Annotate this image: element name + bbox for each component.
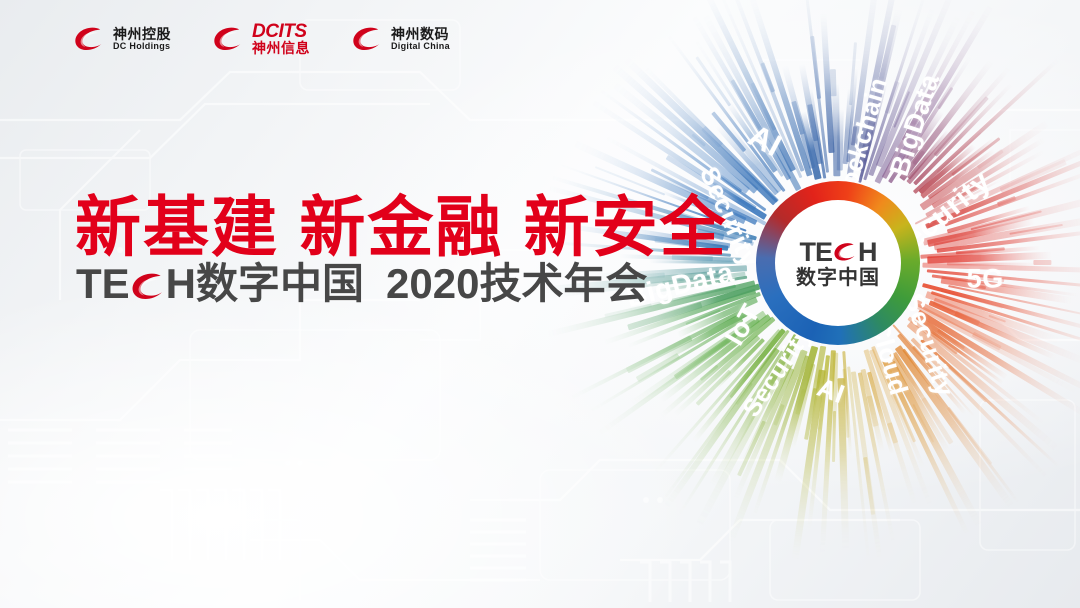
center-logo-ring: TE H 数字中国	[756, 181, 920, 345]
brand-en-label: Digital China	[391, 42, 450, 52]
logo-bar: 神州控股 DC Holdings DCITS 神州信息	[72, 22, 450, 56]
dc-swoosh-icon	[129, 268, 167, 301]
dc-swoosh-icon	[211, 25, 245, 53]
dc-swoosh-icon	[832, 241, 858, 263]
brand-en-label: DC Holdings	[113, 42, 171, 52]
subtitle-event: 技术年会	[479, 263, 647, 305]
brand-digital-china: 神州数码 Digital China	[350, 25, 450, 53]
page-subtitle: TE H数字中国 2020 技术年会	[76, 263, 647, 305]
poster-canvas: SecurityAIBlockchainBigDataSecurity5GSec…	[0, 0, 1080, 608]
page-title: 新基建 新金融 新安全	[75, 193, 728, 262]
dc-swoosh-icon	[350, 25, 384, 53]
brand-wordmark: DCITS	[252, 22, 310, 41]
brand-cn-label: 神州控股	[113, 27, 171, 42]
brand-dcits: DCITS 神州信息	[211, 22, 310, 56]
subtitle-tech-pre: TE	[76, 263, 130, 305]
center-logo-tech: TE H	[799, 239, 876, 266]
brand-cn-label: 神州数码	[391, 27, 450, 42]
brand-text: 神州数码 Digital China	[391, 27, 450, 52]
subtitle-year: 2020	[386, 263, 479, 305]
brand-text: 神州控股 DC Holdings	[113, 27, 171, 52]
center-logo-inner: TE H 数字中国	[775, 200, 901, 326]
brand-text: DCITS 神州信息	[252, 22, 310, 56]
burst-keyword-5g: 5G	[967, 263, 1004, 294]
center-logo-tech-pre: TE	[799, 239, 832, 266]
center-logo-cn: 数字中国	[796, 268, 880, 288]
burst-keyword-ai: AI	[813, 372, 849, 410]
burst-keyword-bigdata: BigData	[884, 70, 946, 180]
burst-keyword-iot: IoT	[719, 299, 767, 351]
burst-keyword-ai: AI	[742, 118, 787, 165]
dc-swoosh-icon	[72, 25, 106, 53]
center-logo-tech-post: H	[858, 239, 877, 266]
brand-dc-holdings: 神州控股 DC Holdings	[72, 25, 171, 53]
subtitle-tech-post: H数字中国	[166, 263, 364, 305]
brand-cn-label: 神州信息	[252, 41, 310, 56]
